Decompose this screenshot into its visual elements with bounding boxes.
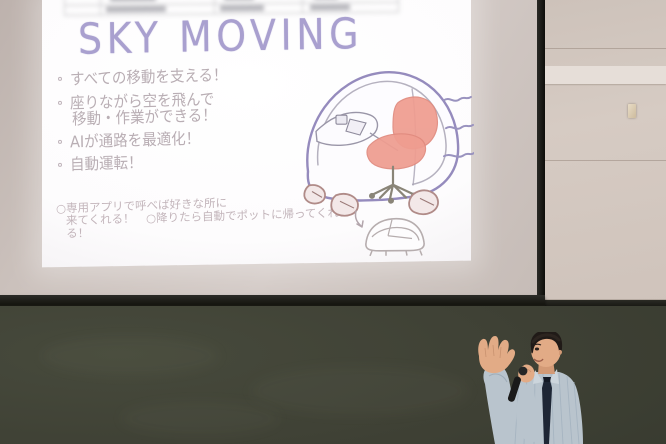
bullet-marker-icon [58,77,62,81]
bullet-marker-icon [58,139,62,143]
small-ground-pod [366,218,424,256]
projection-screen-frame: SKY MOVING すべての移動を支える！ 座りながら空を飛んで 移動・作業が… [0,0,545,316]
back-wall [540,0,666,306]
light-switch-icon[interactable] [628,104,636,118]
projected-slide: SKY MOVING すべての移動を支える！ 座りながら空を飛んで 移動・作業が… [42,0,471,267]
bullet-text: 自動運転！ [69,156,142,174]
bullet-text: 移動・作業ができる！ [72,108,217,128]
slide-bullet-list: すべての移動を支える！ 座りながら空を飛んで 移動・作業ができる！ AIが通路を… [58,70,298,173]
bullet-marker-icon [58,163,62,167]
arrow-pointer [355,211,363,227]
bullet-text: すべての移動を支える！ [69,68,227,88]
screen-right-edge [537,0,545,300]
list-item: AIが通路を最適化！ [58,132,298,149]
bullet-text: AIが通路を最適化！ [69,131,199,151]
wall-trim-band [540,66,666,84]
list-item: すべての移動を支える！ [58,70,298,87]
console-screen [336,115,347,124]
presenter-eye [535,348,539,351]
list-item: 自動運転！ [58,156,298,173]
list-item: 移動・作業ができる！ [58,110,298,127]
sky-moving-pod-sketch [294,52,474,259]
presenter-raised-hand [478,336,515,373]
chair-caster [369,193,375,199]
presenter-speaking [455,332,615,444]
chair-caster [388,198,394,204]
bullet-marker-icon [58,100,62,104]
lecture-hall-photo: SKY MOVING すべての移動を支える！ 座りながら空を飛んで 移動・作業が… [0,0,666,444]
